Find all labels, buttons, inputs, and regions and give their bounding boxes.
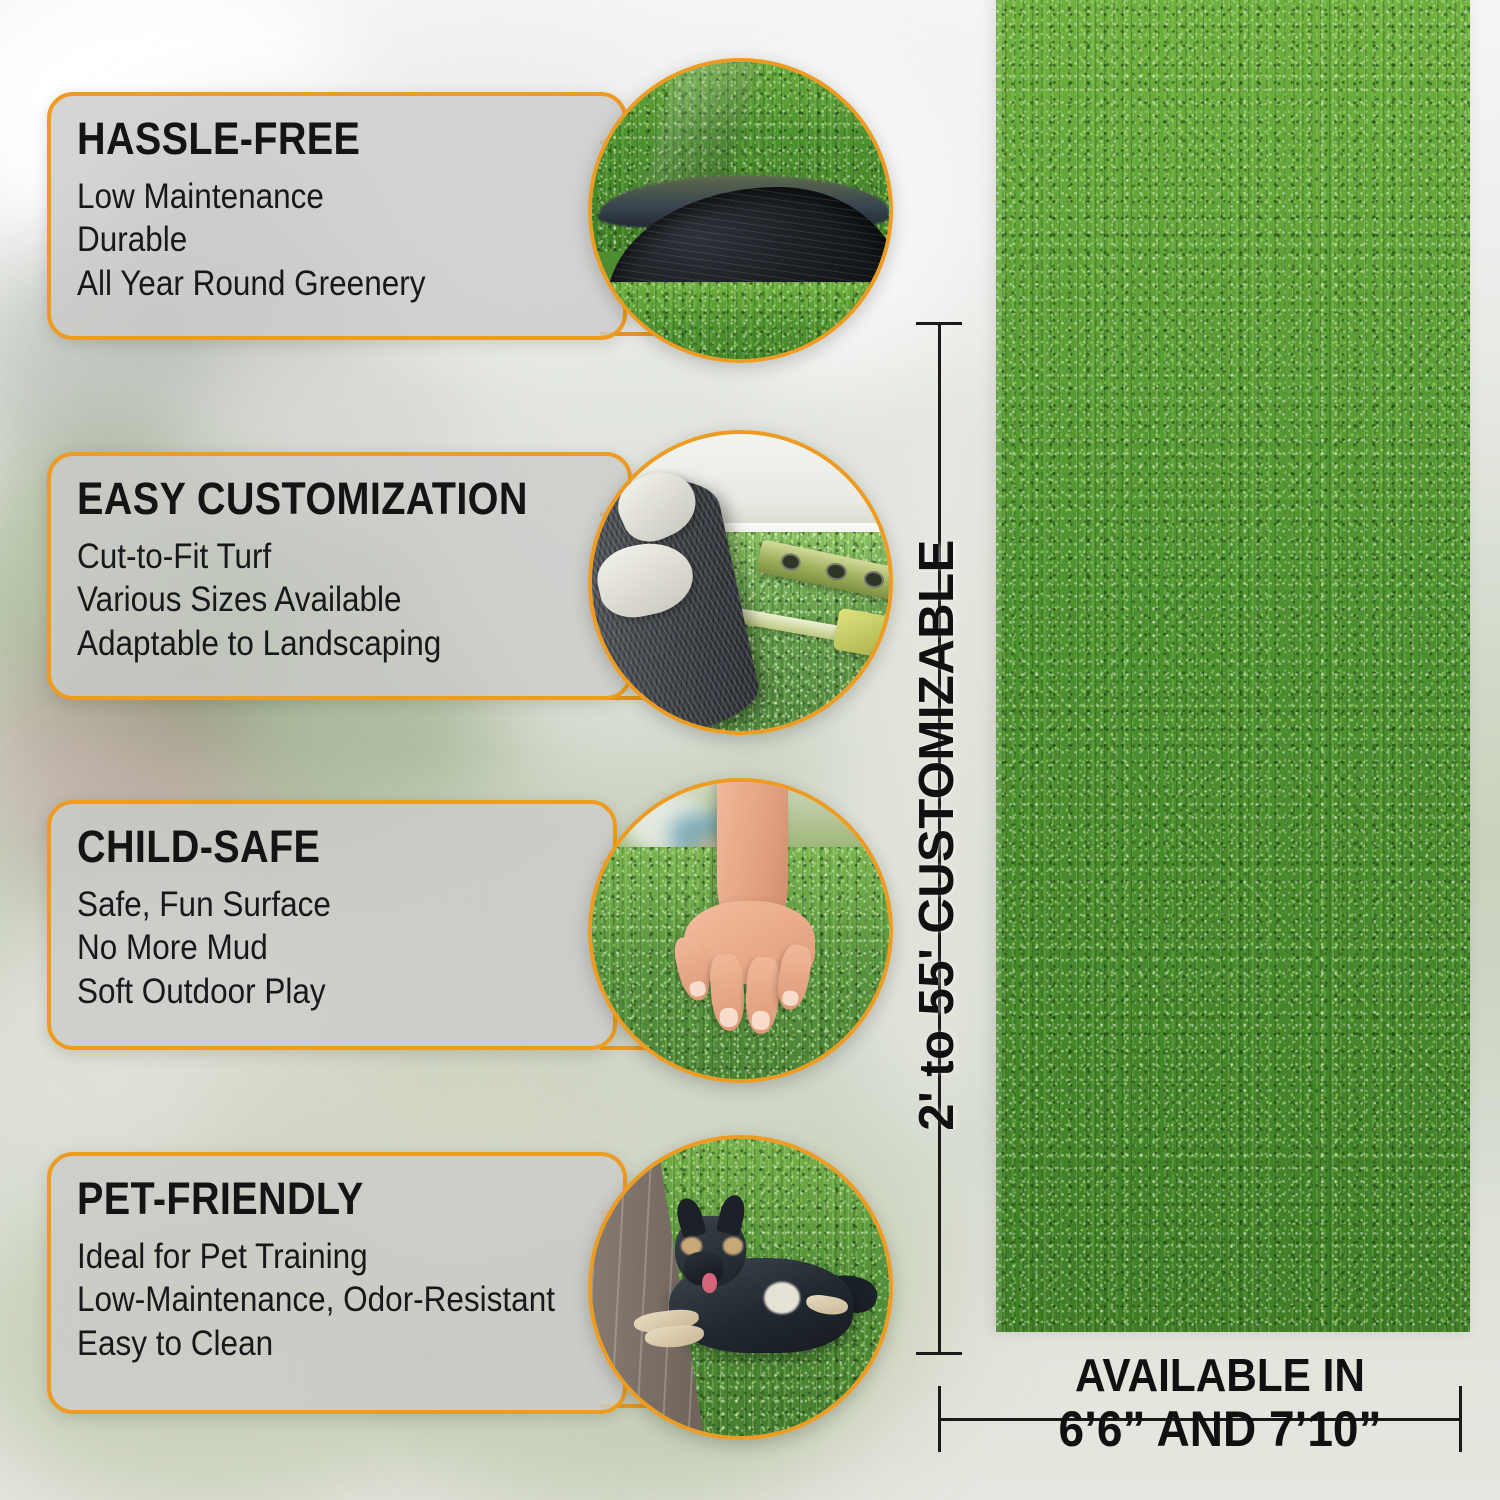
feature-benefit: Durable	[77, 218, 568, 261]
feature-benefit: Adaptable to Landscaping	[77, 622, 573, 665]
feature-benefit-list: Safe, Fun Surface No More Mud Soft Outdo…	[77, 883, 613, 1013]
feature-title: PET-FRIENDLY	[77, 1176, 557, 1221]
feature-photo-rolled-turf	[588, 58, 893, 363]
feature-benefit-list: Low Maintenance Durable All Year Round G…	[77, 175, 623, 305]
length-dimension-label: 2' to 55' CUSTOMIZABLE	[905, 330, 969, 1340]
infographic-canvas: HASSLE-FREE Low Maintenance Durable All …	[0, 0, 1500, 1500]
length-dimension-cap-top	[916, 322, 962, 325]
feature-benefit: Soft Outdoor Play	[77, 970, 559, 1013]
feature-photo-dog-on-turf	[588, 1135, 893, 1440]
feature-benefit-list: Cut-to-Fit Turf Various Sizes Available …	[77, 535, 628, 665]
available-in-text: AVAILABLE IN	[981, 1352, 1459, 1399]
feature-benefit: Easy to Clean	[77, 1322, 568, 1365]
feature-benefit: Low Maintenance	[77, 175, 568, 218]
feature-card-pet-friendly: PET-FRIENDLY Ideal for Pet Training Low-…	[47, 1152, 627, 1414]
width-dimension-cap-left	[938, 1386, 941, 1452]
length-dimension-text: 2' to 55' CUSTOMIZABLE	[909, 539, 965, 1131]
feature-title: CHILD-SAFE	[77, 824, 549, 869]
feature-benefit-list: Ideal for Pet Training Low-Maintenance, …	[77, 1235, 623, 1365]
feature-benefit: Low-Maintenance, Odor-Resistant	[77, 1278, 568, 1321]
feature-benefit: Various Sizes Available	[77, 578, 573, 621]
feature-photo-turf-installation	[588, 430, 893, 735]
feature-card-child-safe: CHILD-SAFE Safe, Fun Surface No More Mud…	[47, 800, 617, 1050]
feature-title: EASY CUSTOMIZATION	[77, 476, 562, 521]
feature-benefit: No More Mud	[77, 926, 559, 969]
width-dimension-label: AVAILABLE IN 6’6” AND 7’10”	[960, 1352, 1480, 1455]
feature-title: HASSLE-FREE	[77, 116, 557, 161]
feature-benefit: All Year Round Greenery	[77, 262, 568, 305]
feature-card-easy-customization: EASY CUSTOMIZATION Cut-to-Fit Turf Vario…	[47, 452, 632, 700]
product-turf-roll-swatch	[996, 0, 1470, 1332]
length-dimension-cap-bottom	[916, 1352, 962, 1355]
feature-photo-child-hand-on-turf	[588, 778, 893, 1083]
feature-benefit: Cut-to-Fit Turf	[77, 535, 573, 578]
available-sizes-text: 6’6” AND 7’10”	[981, 1403, 1459, 1456]
feature-benefit: Ideal for Pet Training	[77, 1235, 568, 1278]
feature-benefit: Safe, Fun Surface	[77, 883, 559, 926]
feature-card-hassle-free: HASSLE-FREE Low Maintenance Durable All …	[47, 92, 627, 340]
